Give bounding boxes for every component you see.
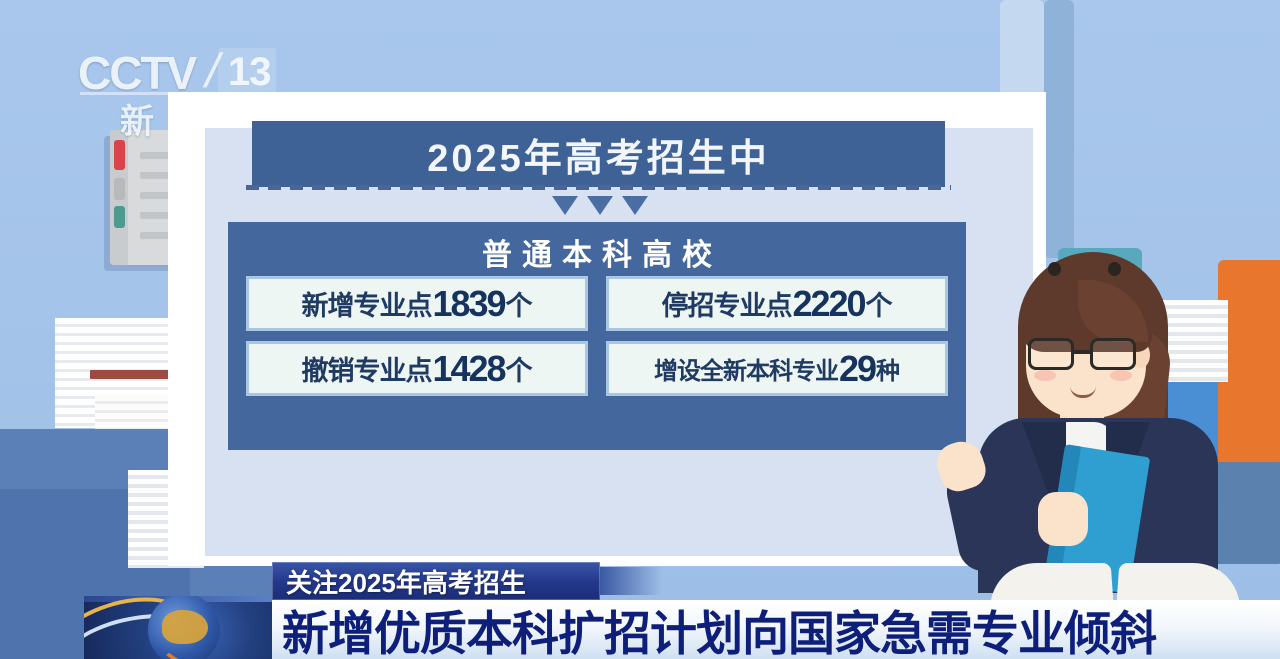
stat-box: 新增专业点 1839 个 bbox=[246, 276, 588, 331]
stat-label: 撤销专业点 bbox=[301, 349, 431, 388]
stat-unit: 个 bbox=[506, 284, 533, 323]
stat-label: 增设全新本科专业 bbox=[654, 351, 838, 386]
stat-value: 2220 bbox=[792, 283, 864, 325]
stat-unit: 个 bbox=[506, 349, 533, 388]
eye-right bbox=[1108, 262, 1121, 276]
headline-text: 新增优质本科扩招计划向国家急需专业倾斜 bbox=[282, 600, 1156, 659]
glasses-lens-left bbox=[1028, 338, 1074, 370]
triangle-arrow-group bbox=[540, 196, 660, 218]
news-globe-graphic bbox=[84, 596, 280, 659]
stats-grid: 新增专业点 1839 个 停招专业点 2220 个 撤销专业点 1428 个 增… bbox=[246, 276, 948, 396]
bookmark-gray bbox=[114, 178, 125, 200]
kicker-bar: 关注2025年高考招生 bbox=[272, 562, 600, 600]
stat-box: 停招专业点 2220 个 bbox=[606, 276, 948, 331]
section-heading: 普通本科高校 bbox=[228, 230, 966, 274]
presenter-illustration bbox=[960, 250, 1280, 590]
page-title: 2025年高考招生中 bbox=[427, 127, 770, 182]
glasses-bridge bbox=[1074, 350, 1090, 354]
shelf-book-steelblue bbox=[1044, 0, 1074, 258]
stat-unit: 种 bbox=[876, 351, 900, 386]
eye-left bbox=[1048, 262, 1061, 276]
stat-value: 1428 bbox=[432, 348, 504, 390]
stat-unit: 个 bbox=[866, 284, 893, 323]
hand-right bbox=[1038, 492, 1088, 546]
broadcast-screen: CCTV / 13 新闻 2025年高考招生中 普通本科高校 新增专业点 183… bbox=[0, 0, 1280, 659]
glasses-icon bbox=[1028, 338, 1146, 372]
bookmark-red bbox=[114, 140, 125, 170]
triangle-down-icon bbox=[622, 196, 648, 215]
dashed-divider bbox=[246, 185, 951, 190]
stat-value: 29 bbox=[839, 348, 875, 390]
stat-label: 新增专业点 bbox=[301, 284, 431, 323]
bookmark-teal bbox=[114, 206, 125, 228]
stat-label: 停招专业点 bbox=[661, 284, 791, 323]
infographic-title-banner: 2025年高考招生中 bbox=[252, 121, 945, 187]
stat-box: 增设全新本科专业 29 种 bbox=[606, 341, 948, 396]
kicker-tail-gradient bbox=[600, 567, 662, 595]
stats-panel: 普通本科高校 新增专业点 1839 个 停招专业点 2220 个 撤销专业点 1… bbox=[228, 222, 966, 450]
stat-box: 撤销专业点 1428 个 bbox=[246, 341, 588, 396]
triangle-down-icon bbox=[552, 196, 578, 215]
stat-value: 1839 bbox=[432, 283, 504, 325]
headline-bar: 新增优质本科扩招计划向国家急需专业倾斜 bbox=[272, 600, 1280, 659]
glasses-lens-right bbox=[1090, 338, 1136, 370]
triangle-down-icon bbox=[587, 196, 613, 215]
kicker-text: 关注2025年高考招生 bbox=[286, 563, 526, 600]
